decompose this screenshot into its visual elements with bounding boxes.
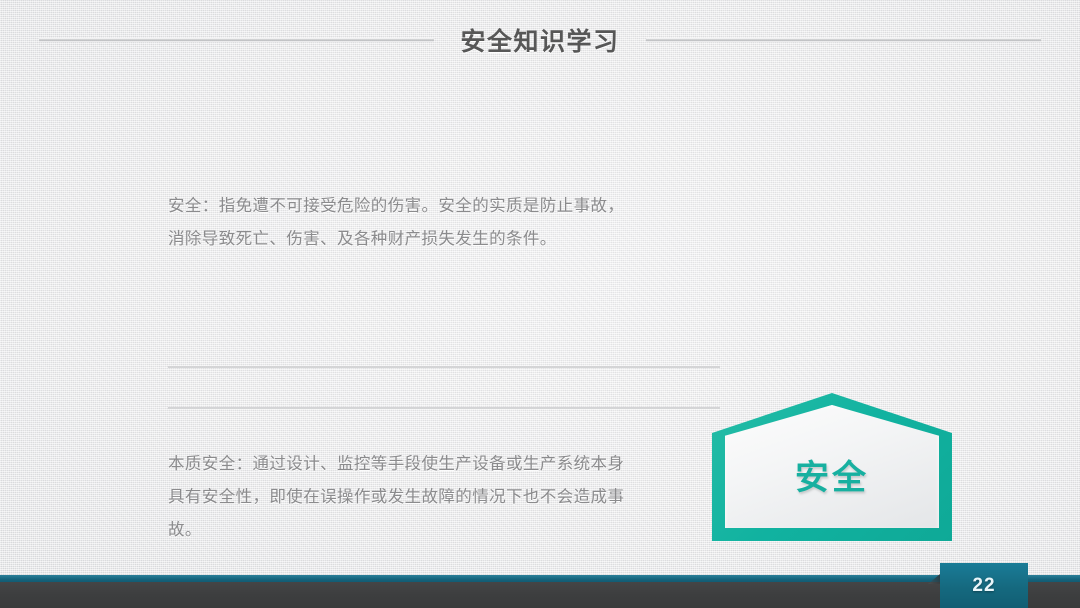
page-number: 22	[972, 575, 995, 597]
divider-line-upper	[168, 366, 720, 368]
page-number-tab: 22	[940, 563, 1028, 608]
definition-paragraph-intrinsic-safety: 本质安全：通过设计、监控等手段使生产设备或生产系统本身具有安全性，即使在误操作或…	[168, 448, 638, 547]
divider-line-lower	[168, 407, 720, 409]
definition-paragraph-safety: 安全：指免遭不可接受危险的伤害。安全的实质是防止事故，消除导致死亡、伤害、及各种…	[168, 190, 638, 256]
title-rule-right	[646, 38, 1041, 42]
slide-canvas: 安全知识学习 安全：指免遭不可接受危险的伤害。安全的实质是防止事故，消除导致死亡…	[0, 0, 1080, 608]
footer-accent-stripe	[0, 575, 1080, 582]
slide-header: 安全知识学习	[0, 18, 1080, 62]
page-title: 安全知识学习	[460, 22, 619, 58]
badge-safety-label: 安全	[795, 459, 869, 497]
badge-safety: 安全	[712, 393, 952, 541]
footer-bar	[0, 582, 1080, 608]
title-rule-left	[39, 38, 434, 42]
